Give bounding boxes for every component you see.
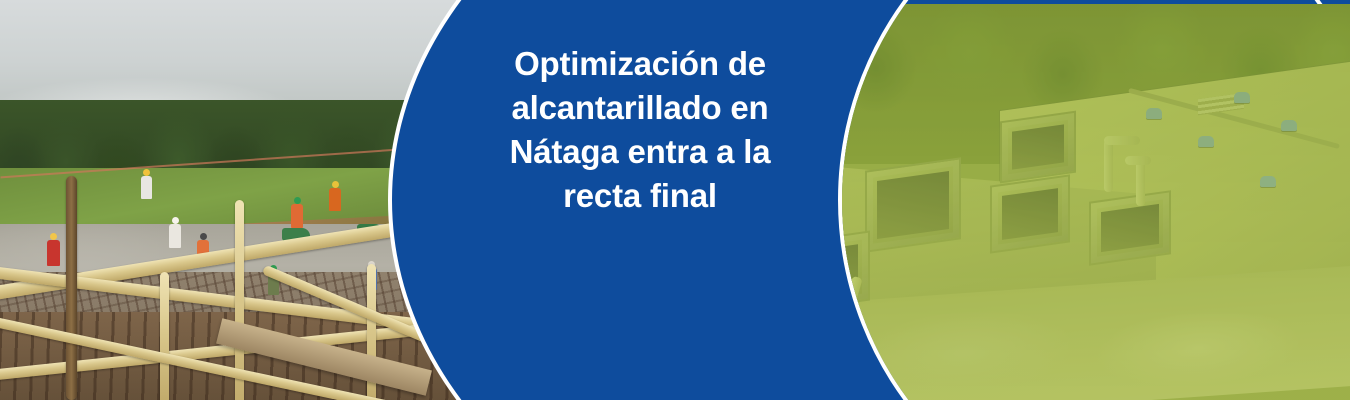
hard-hat <box>294 197 301 204</box>
bamboo-pole <box>160 272 169 400</box>
right-photo-circle <box>838 0 1350 400</box>
circle-photo-inner <box>838 4 1350 400</box>
worker-figure <box>169 224 181 248</box>
bamboo-post <box>66 176 77 400</box>
green-wash-overlay <box>838 4 1350 400</box>
worker-figure <box>47 240 60 266</box>
right-treatment-plant-photo <box>838 4 1350 400</box>
worker-figure <box>141 176 152 199</box>
hard-hat <box>172 217 179 224</box>
worker-figure <box>291 204 303 228</box>
worker-figure <box>329 188 341 211</box>
news-banner: Optimización de alcantarillado en Nátaga… <box>0 0 1350 400</box>
hard-hat <box>200 233 207 240</box>
hard-hat <box>332 181 339 188</box>
hard-hat <box>50 233 57 240</box>
hard-hat <box>143 169 150 176</box>
